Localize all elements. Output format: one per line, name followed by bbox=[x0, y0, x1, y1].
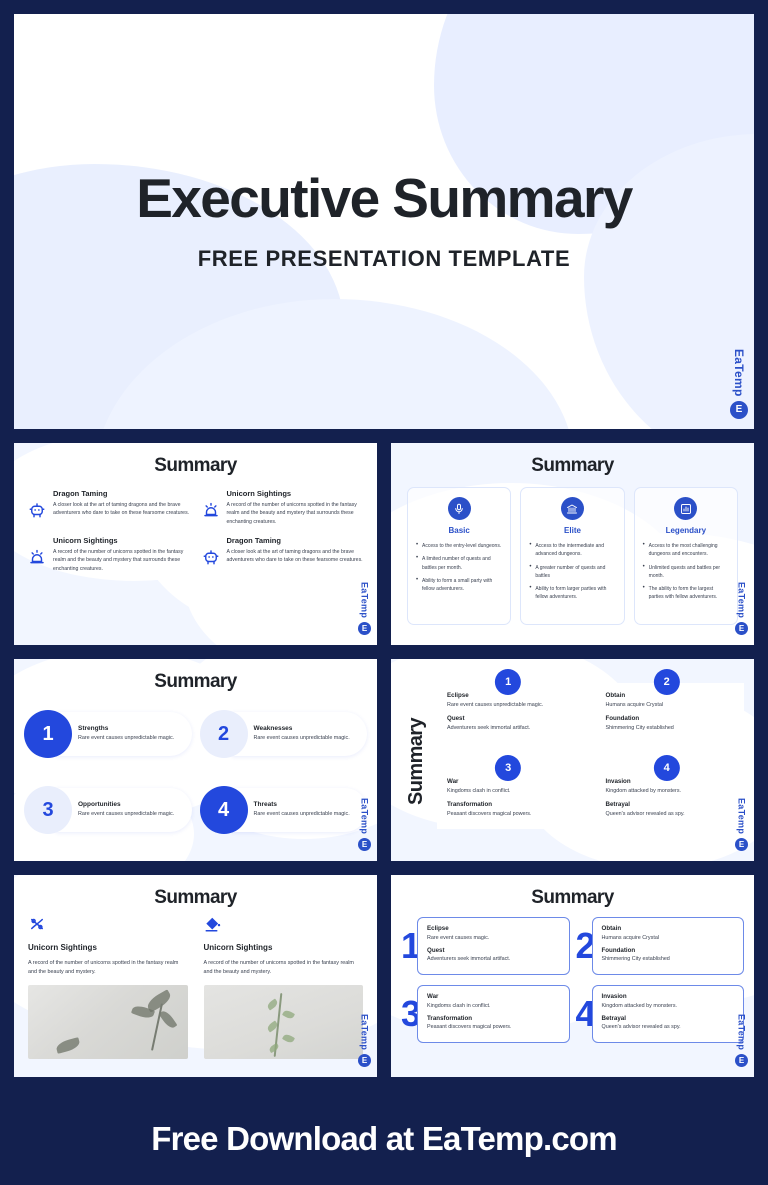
paint-bucket-icon bbox=[204, 915, 364, 933]
list-item[interactable]: Dragon Taming A closer look at the art o… bbox=[202, 536, 364, 573]
slide-heading: Summary bbox=[391, 443, 754, 477]
swot-item[interactable]: 4 Threats Rare event causes unpredictabl… bbox=[200, 779, 368, 841]
step-title: Quest bbox=[447, 715, 576, 722]
eatemp-logo-icon: E bbox=[735, 1054, 748, 1067]
page-subtitle: FREE PRESENTATION TEMPLATE bbox=[198, 246, 571, 272]
item-body: A record of the number of unicorns spott… bbox=[227, 501, 364, 527]
white-plant-photo bbox=[28, 985, 188, 1059]
swot-item[interactable]: 2 Weaknesses Rare event causes unpredict… bbox=[200, 703, 368, 765]
bullet: Access to the entry-level dungeons. bbox=[416, 542, 502, 550]
step-number: 4 bbox=[654, 755, 680, 781]
watermark-label: EaTemp bbox=[737, 582, 747, 618]
list-item[interactable]: Unicorn Sightings A record of the number… bbox=[28, 536, 190, 573]
box-body: Kingdoms clash in conflict. bbox=[427, 1003, 560, 1009]
swot-title: Strengths bbox=[78, 725, 176, 732]
box-body: Queen's advisor revealed as spy. bbox=[602, 1024, 735, 1030]
bullet: Ability to form larger parties with fell… bbox=[529, 585, 615, 602]
item-title: Unicorn Sightings bbox=[227, 489, 364, 498]
swot-title: Weaknesses bbox=[254, 725, 352, 732]
step-number: 1 bbox=[495, 669, 521, 695]
swot-body: Rare event causes unpredictable magic. bbox=[254, 810, 352, 818]
tier-bullets: Access to the entry-level dungeons. A li… bbox=[416, 542, 502, 593]
swot-body: Rare event causes unpredictable magic. bbox=[254, 734, 352, 742]
slide-heading: Summary bbox=[14, 443, 377, 477]
siren-icon bbox=[202, 501, 220, 524]
swot-number: 1 bbox=[24, 710, 72, 758]
swot-item[interactable]: 3 Opportunities Rare event causes unpred… bbox=[24, 779, 192, 841]
box-title: Quest bbox=[427, 947, 560, 954]
box-title: Betrayal bbox=[602, 1015, 735, 1022]
item-body: A closer look at the art of taming drago… bbox=[227, 548, 364, 565]
tier-bullets: Access to the most challenging dungeons … bbox=[643, 542, 729, 602]
watermark: EaTemp E bbox=[358, 582, 371, 635]
watermark-label: EaTemp bbox=[737, 1014, 747, 1050]
eatemp-logo-icon: E bbox=[735, 622, 748, 635]
step-number: 3 bbox=[495, 755, 521, 781]
swot-number: 3 bbox=[24, 786, 72, 834]
siren-icon bbox=[28, 548, 46, 571]
box-title: Transformation bbox=[427, 1015, 560, 1022]
bullet: Ability to form a small party with fello… bbox=[416, 577, 502, 594]
timeline-cell[interactable]: 2 Obtain Humans acquire Crystal Foundati… bbox=[596, 669, 745, 743]
slide-heading: Summary bbox=[391, 875, 754, 909]
step-body: Rare event causes unpredictable magic. bbox=[447, 702, 576, 708]
slide-tier-cards[interactable]: Summary Basic Access to the entry-level … bbox=[391, 443, 754, 645]
tier-name: Legendary bbox=[643, 526, 729, 535]
item-body: A closer look at the art of taming drago… bbox=[53, 501, 190, 518]
image-column[interactable]: Unicorn Sightings A record of the number… bbox=[28, 915, 188, 1059]
watermark-label: EaTemp bbox=[732, 349, 746, 397]
timeline-cell[interactable]: 3 War Kingdoms clash in conflict. Transf… bbox=[437, 755, 586, 829]
microphone-icon bbox=[448, 497, 471, 520]
step-title: Foundation bbox=[606, 715, 735, 722]
tier-card[interactable]: Elite Access to the intermediate and adv… bbox=[520, 487, 624, 625]
list-item[interactable]: Dragon Taming A closer look at the art o… bbox=[28, 489, 190, 526]
swot-body: Rare event causes unpredictable magic. bbox=[78, 734, 176, 742]
numbered-box[interactable]: 3 War Kingdoms clash in conflict. Transf… bbox=[401, 985, 570, 1043]
numbered-box[interactable]: 2 Obtain Humans acquire Crystal Foundati… bbox=[576, 917, 745, 975]
slide-numbered-boxes[interactable]: Summary 1 Eclipse Rare event causes magi… bbox=[391, 875, 754, 1077]
robot-icon bbox=[202, 548, 220, 571]
watermark: EaTemp E bbox=[735, 582, 748, 635]
numbered-box[interactable]: 1 Eclipse Rare event causes magic. Quest… bbox=[401, 917, 570, 975]
box-title: War bbox=[427, 993, 560, 1000]
swot-number: 4 bbox=[200, 786, 248, 834]
eatemp-logo-icon: E bbox=[730, 401, 748, 419]
slide-image-columns[interactable]: Summary Unicorn Sightings A record of th… bbox=[14, 875, 377, 1077]
watermark: EaTemp E bbox=[730, 349, 748, 419]
footer-label: Free Download at EaTemp.com bbox=[151, 1120, 617, 1158]
watermark-label: EaTemp bbox=[360, 798, 370, 834]
swot-title: Opportunities bbox=[78, 801, 176, 808]
box-body: Rare event causes magic. bbox=[427, 935, 560, 941]
watermark-label: EaTemp bbox=[360, 582, 370, 618]
column-body: A record of the number of unicorns spott… bbox=[204, 959, 364, 977]
robot-icon bbox=[28, 501, 46, 524]
column-title: Unicorn Sightings bbox=[28, 943, 188, 952]
bullet: A limited number of quests and battles p… bbox=[416, 555, 502, 572]
box-title: Foundation bbox=[602, 947, 735, 954]
step-body: Shimmering City established bbox=[606, 725, 735, 731]
eatemp-logo-icon: E bbox=[358, 622, 371, 635]
slide-heading: Summary bbox=[14, 875, 377, 909]
item-title: Unicorn Sightings bbox=[53, 536, 190, 545]
box-body: Adventurers seek immortal artifact. bbox=[427, 956, 560, 962]
column-body: A record of the number of unicorns spott… bbox=[28, 959, 188, 977]
hero-slide[interactable]: Executive Summary FREE PRESENTATION TEMP… bbox=[14, 14, 754, 429]
item-title: Dragon Taming bbox=[227, 536, 364, 545]
numbered-box[interactable]: 4 Invasion Kingdom attacked by monsters.… bbox=[576, 985, 745, 1043]
bar-chart-icon bbox=[674, 497, 697, 520]
box-body: Peasant discovers magical powers. bbox=[427, 1024, 560, 1030]
box-body: Shimmering City established bbox=[602, 956, 735, 962]
box-body: Kingdom attacked by monsters. bbox=[602, 1003, 735, 1009]
swot-number: 2 bbox=[200, 710, 248, 758]
watermark: EaTemp E bbox=[735, 1014, 748, 1067]
box-title: Obtain bbox=[602, 925, 735, 932]
swot-item[interactable]: 1 Strengths Rare event causes unpredicta… bbox=[24, 703, 192, 765]
swot-body: Rare event causes unpredictable magic. bbox=[78, 810, 176, 818]
slide-icon-list[interactable]: Summary Dragon Taming A closer look at t… bbox=[14, 443, 377, 645]
box-title: Invasion bbox=[602, 993, 735, 1000]
bullet: The ability to form the largest parties … bbox=[643, 585, 729, 602]
step-body: Humans acquire Crystal bbox=[606, 702, 735, 708]
tier-bullets: Access to the intermediate and advanced … bbox=[529, 542, 615, 602]
slide-heading: Summary bbox=[14, 659, 377, 693]
swot-title: Threats bbox=[254, 801, 352, 808]
bullet: Access to the most challenging dungeons … bbox=[643, 542, 729, 559]
bank-icon bbox=[561, 497, 584, 520]
slide-swot[interactable]: Summary 1 Strengths Rare event causes un… bbox=[14, 659, 377, 861]
slide-side-timeline[interactable]: Summary 1 Eclipse Rare event causes unpr… bbox=[391, 659, 754, 861]
timeline-cell[interactable]: 1 Eclipse Rare event causes unpredictabl… bbox=[437, 669, 586, 743]
item-body: A record of the number of unicorns spott… bbox=[53, 548, 190, 574]
dna-icon bbox=[28, 915, 188, 933]
step-body: Queen's advisor revealed as spy. bbox=[606, 811, 735, 817]
tier-card[interactable]: Legendary Access to the most challenging… bbox=[634, 487, 738, 625]
page-title: Executive Summary bbox=[136, 171, 632, 226]
image-column[interactable]: Unicorn Sightings A record of the number… bbox=[204, 915, 364, 1059]
bullet: Unlimited quests and battles per month. bbox=[643, 564, 729, 581]
timeline-cell[interactable]: 4 Invasion Kingdom attacked by monsters.… bbox=[596, 755, 745, 829]
watermark-label: EaTemp bbox=[360, 1014, 370, 1050]
watermark: EaTemp E bbox=[358, 798, 371, 851]
tier-card[interactable]: Basic Access to the entry-level dungeons… bbox=[407, 487, 511, 625]
eatemp-logo-icon: E bbox=[358, 838, 371, 851]
step-body: Kingdoms clash in conflict. bbox=[447, 788, 576, 794]
download-footer[interactable]: Free Download at EaTemp.com bbox=[0, 1093, 768, 1185]
eatemp-logo-icon: E bbox=[735, 838, 748, 851]
box-title: Eclipse bbox=[427, 925, 560, 932]
tier-name: Elite bbox=[529, 526, 615, 535]
green-branch-photo bbox=[204, 985, 364, 1059]
slide-grid: Summary Dragon Taming A closer look at t… bbox=[14, 443, 754, 1077]
box-body: Humans acquire Crystal bbox=[602, 935, 735, 941]
item-title: Dragon Taming bbox=[53, 489, 190, 498]
column-title: Unicorn Sightings bbox=[204, 943, 364, 952]
watermark: EaTemp E bbox=[358, 1014, 371, 1067]
slide-heading-vertical: Summary bbox=[397, 677, 435, 845]
eatemp-logo-icon: E bbox=[358, 1054, 371, 1067]
watermark-label: EaTemp bbox=[737, 798, 747, 834]
step-body: Kingdom attacked by monsters. bbox=[606, 788, 735, 794]
slide-heading: Summary bbox=[405, 718, 428, 805]
step-body: Adventurers seek immortal artifact. bbox=[447, 725, 576, 731]
step-body: Peasant discovers magical powers. bbox=[447, 811, 576, 817]
step-title: Transformation bbox=[447, 801, 576, 808]
watermark: EaTemp E bbox=[735, 798, 748, 851]
bullet: Access to the intermediate and advanced … bbox=[529, 542, 615, 559]
tier-name: Basic bbox=[416, 526, 502, 535]
step-title: Betrayal bbox=[606, 801, 735, 808]
step-number: 2 bbox=[654, 669, 680, 695]
bullet: A greater number of quests and battles bbox=[529, 564, 615, 581]
list-item[interactable]: Unicorn Sightings A record of the number… bbox=[202, 489, 364, 526]
